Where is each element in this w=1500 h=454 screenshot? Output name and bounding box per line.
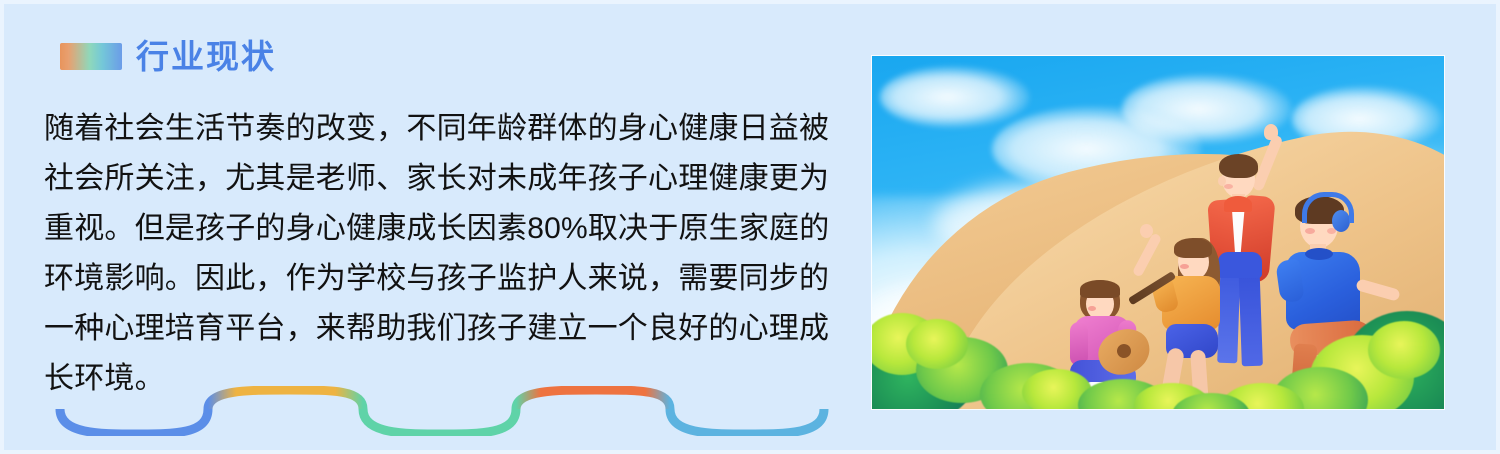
illustration-frame (872, 56, 1444, 409)
jacket-collar (1224, 196, 1252, 212)
hand (1264, 124, 1278, 140)
hand (1140, 224, 1153, 238)
hair-fringe (1080, 280, 1120, 298)
slide-canvas: 行业现状 随着社会生活节奏的改变，不同年龄群体的身心健康日益被社会所关注，尤其是… (0, 0, 1500, 454)
cheek-blush (1305, 228, 1315, 234)
body-paragraph: 随着社会生活节奏的改变，不同年龄群体的身心健康日益被社会所关注，尤其是老师、家长… (44, 104, 834, 404)
cheek-blush (1088, 306, 1096, 311)
wave-segment-valley-blue (60, 409, 208, 434)
wave-segment-peak-yellow (208, 390, 363, 409)
page-title: 行业现状 (136, 40, 276, 73)
content-column: 行业现状 随着社会生活节奏的改变，不同年龄群体的身心健康日益被社会所关注，尤其是… (44, 34, 844, 434)
wave-segment-peak-orange (516, 390, 670, 409)
cheek-blush (1180, 264, 1189, 269)
wave-segment-valley-green (363, 409, 516, 434)
hair-fringe (1174, 238, 1212, 258)
arm (1355, 278, 1401, 302)
gradient-accent-bar-icon (60, 43, 122, 70)
students-on-hill-illustration (872, 56, 1444, 409)
tshirt-collar (1305, 248, 1333, 260)
hair (1219, 154, 1258, 178)
wave-segment-valley-light-blue (670, 409, 824, 434)
bush-icon (906, 319, 968, 369)
headphone-band (1302, 192, 1354, 223)
cheek-blush (1327, 228, 1336, 234)
section-heading: 行业现状 (60, 34, 844, 78)
cheek-blush (1224, 184, 1233, 189)
decorative-wave-divider (48, 386, 838, 436)
bush-icon (1368, 321, 1440, 379)
cloud-icon (880, 66, 1030, 128)
